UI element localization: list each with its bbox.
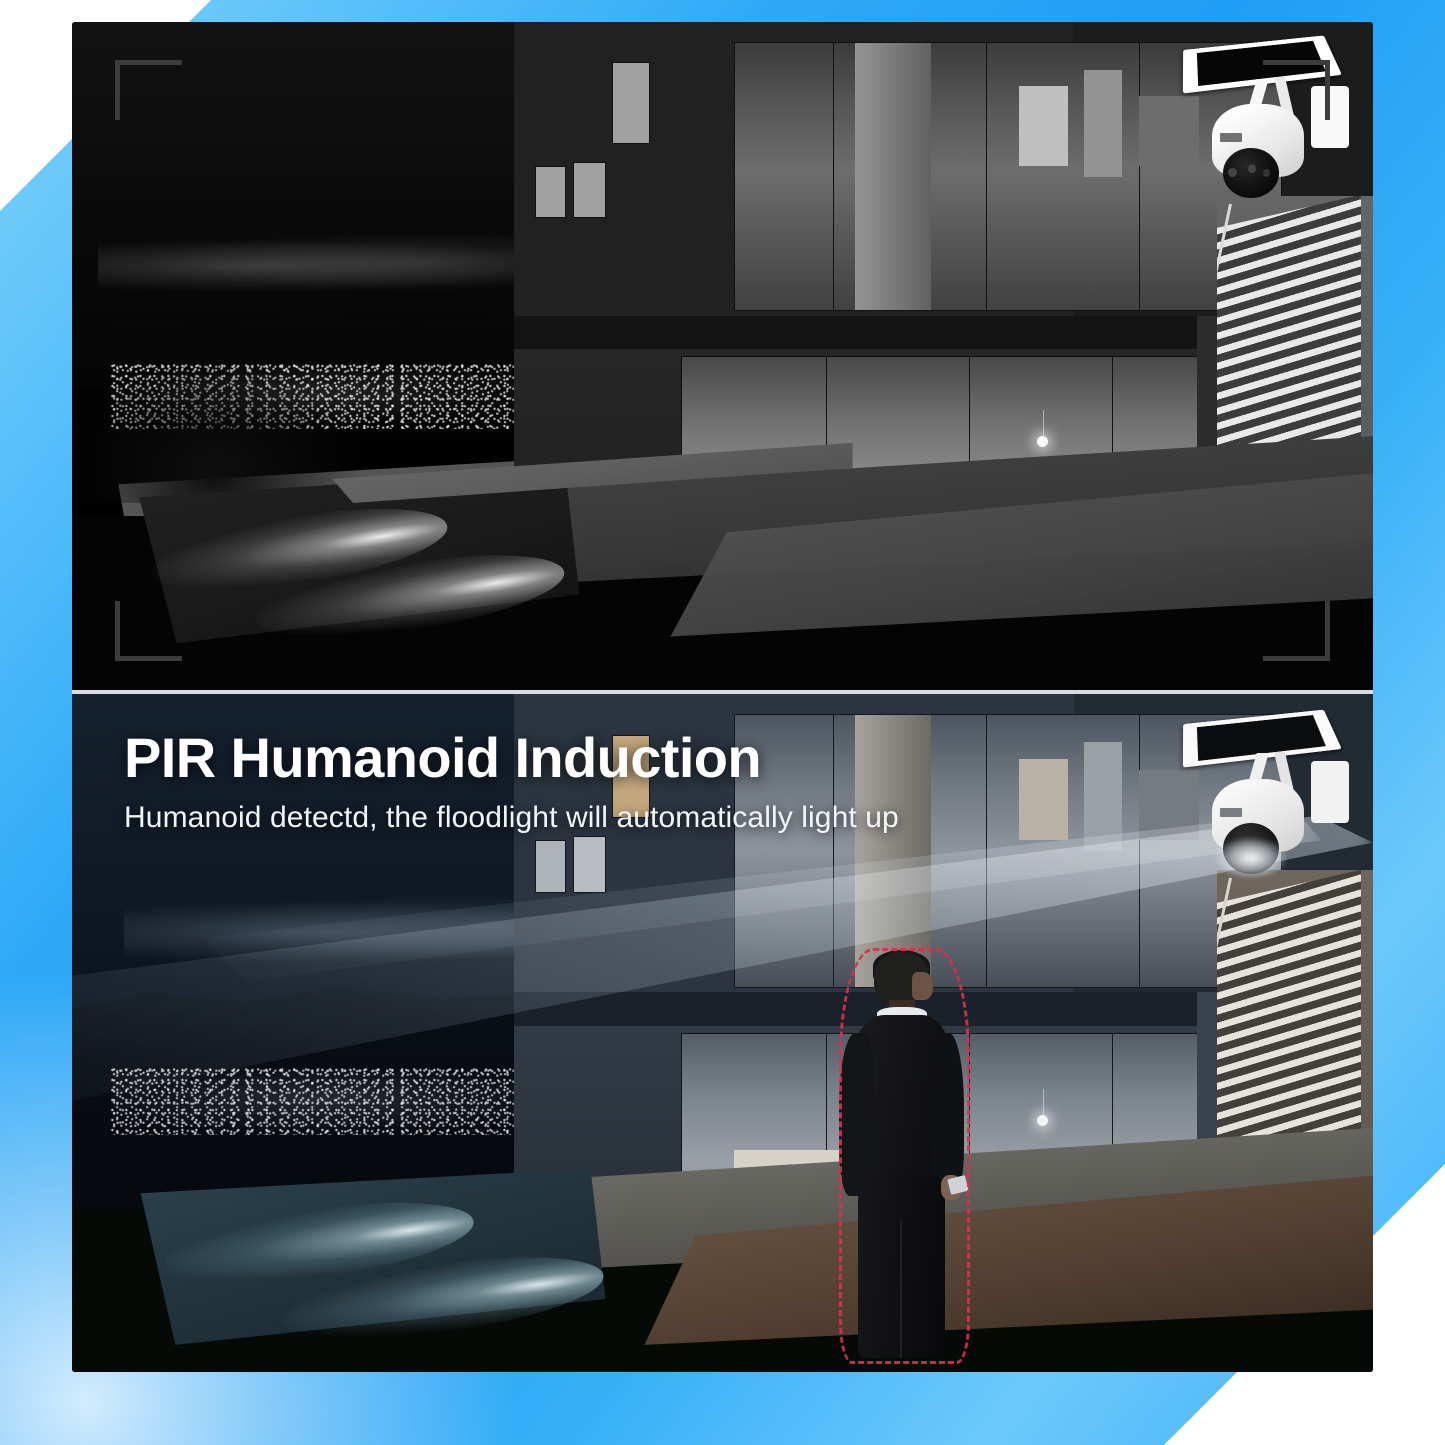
glass-mullion-2 (986, 43, 988, 310)
floodlight-scene: PIR Humanoid Induction Humanoid detectd,… (72, 694, 1373, 1372)
ir-led-1 (1228, 168, 1237, 177)
upper-room-curtain (855, 43, 931, 310)
glass-mullion-1 (833, 43, 835, 310)
feature-text-block: PIR Humanoid Induction Humanoid detectd,… (124, 728, 899, 835)
window-small-b (573, 836, 606, 892)
solar-ptz-camera-bottom (1184, 702, 1360, 885)
upper-room-shelf-b (1084, 742, 1122, 850)
window-small-b (573, 162, 606, 217)
panel-night-vision (72, 22, 1373, 690)
glass-mullion-3 (1139, 43, 1141, 310)
shrubbery (72, 356, 358, 503)
humanoid-detection-outline (839, 948, 971, 1365)
page-subtitle: Humanoid detectd, the floodlight will au… (124, 801, 899, 835)
floodlight-emitter (1216, 838, 1286, 878)
ir-led-3 (1263, 169, 1270, 176)
upper-room-shelf-b (1084, 70, 1122, 177)
night-vision-scene (72, 22, 1373, 690)
upper-room-shelf-a (1019, 759, 1068, 840)
detected-person (833, 952, 970, 1359)
wall-bracket (1311, 761, 1350, 823)
panel-divider (72, 690, 1373, 694)
window-small-c (535, 166, 566, 218)
product-feature-image: PIR Humanoid Induction Humanoid detectd,… (0, 0, 1445, 1445)
distant-city-lights (111, 1067, 579, 1135)
page-title: PIR Humanoid Induction (124, 728, 899, 787)
window-small-c (535, 840, 566, 893)
glass-mullion-2 (986, 715, 988, 986)
wall-bracket (1311, 86, 1350, 147)
window-small-a (612, 62, 650, 144)
pendant-lamp (1037, 1115, 1048, 1126)
camera-brand-mark (1220, 133, 1243, 142)
panel-stack: PIR Humanoid Induction Humanoid detectd,… (72, 22, 1373, 1372)
pendant-lamp (1037, 436, 1048, 447)
glass-mullion-3 (1139, 715, 1141, 986)
upper-room-shelf-a (1019, 86, 1068, 166)
panel-floodlight-on: PIR Humanoid Induction Humanoid detectd,… (72, 694, 1373, 1372)
camera-brand-mark (1220, 808, 1243, 817)
solar-ptz-camera-top (1184, 29, 1360, 209)
